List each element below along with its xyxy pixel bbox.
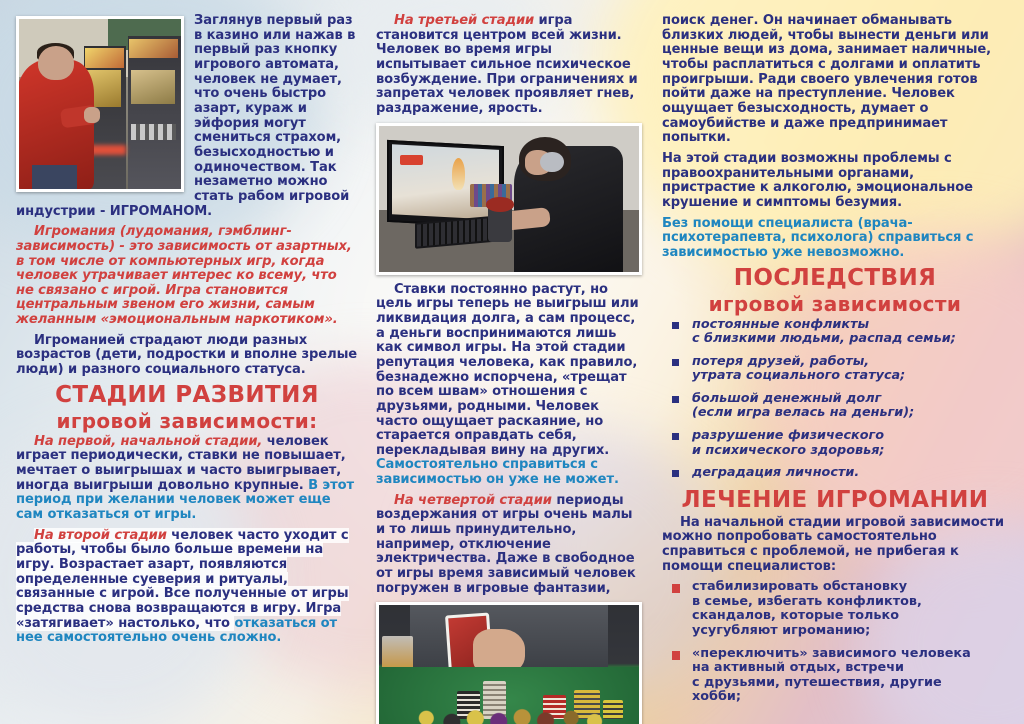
stage-2-lead: На второй стадии <box>34 528 167 543</box>
columns-container: Заглянув первый раз в казино или нажав в… <box>0 0 1024 724</box>
consequence-item-label: постоянные конфликтыс близкими людьми, р… <box>692 317 956 347</box>
consequence-item-label: большой денежный долг(если игра велась н… <box>692 391 914 421</box>
consequence-item-label: деградация личности. <box>692 465 859 480</box>
treatment-step-item: стабилизировать обстановкув семье, избег… <box>662 580 1008 638</box>
consequences-heading-line1: ПОСЛЕДСТВИЯ <box>662 267 1008 290</box>
stages-heading-line2: игровой зависимости: <box>16 411 358 431</box>
treatment-steps-list: стабилизировать обстановкув семье, избег… <box>662 580 1008 705</box>
money-search-paragraph: поиск денег. Он начинает обманывать близ… <box>662 14 1008 146</box>
bullet-marker-icon <box>672 433 679 440</box>
stages-heading-line1: СТАДИИ РАЗВИТИЯ <box>16 384 358 407</box>
consequences-heading-line2: игровой зависимости <box>662 294 1008 314</box>
bullet-marker-icon <box>672 396 679 403</box>
who-suffers-paragraph: Игроманией страдают люди разных возрасто… <box>16 334 358 378</box>
bullet-marker-icon <box>672 470 679 477</box>
stakes-paragraph: Ставки постоянно растут, но цель игры те… <box>376 283 642 488</box>
consequence-item: разрушение физическогои психического здо… <box>662 429 1008 458</box>
stage-1-lead: На первой, начальной стадии, <box>34 434 262 449</box>
stage-4-lead: На четвертой стадии <box>394 493 552 508</box>
bullet-marker-icon <box>672 322 679 329</box>
treatment-step-item-label: «переключить» зависимого человекана акти… <box>692 646 971 705</box>
poker-table-photo <box>376 602 642 724</box>
stakes-highlight: Самостоятельно справиться с зависимостью… <box>376 457 619 487</box>
definition-paragraph: Игромания (лудомания, гэмблинг-зависимос… <box>16 225 358 328</box>
specialist-help-paragraph: Без помощи специалиста (врача-психотерап… <box>662 217 1008 261</box>
consequence-item-label: разрушение физическогои психического здо… <box>692 428 885 458</box>
stage-4-body: периоды воздержания от игры очень малы и… <box>376 493 636 596</box>
bullet-marker-icon <box>672 359 679 366</box>
consequences-list: постоянные конфликтыс близкими людьми, р… <box>662 318 1008 481</box>
stage-problems-paragraph: На этой стадии возможны проблемы с право… <box>662 152 1008 211</box>
consequence-item: потеря друзей, работы,утрата социального… <box>662 355 1008 384</box>
stakes-body: Ставки постоянно растут, но цель игры те… <box>376 282 639 458</box>
man-at-slot-machines-photo <box>16 16 184 192</box>
stage-3-paragraph: На третьей стадии игра становится центро… <box>376 14 642 117</box>
consequence-item: большой денежный долг(если игра велась н… <box>662 392 1008 421</box>
consequence-item: деградация личности. <box>662 466 1008 481</box>
bullet-marker-icon <box>672 584 680 593</box>
consequence-item: постоянные конфликтыс близкими людьми, р… <box>662 318 1008 347</box>
treatment-intro-paragraph: На начальной стадии игровой зависимости … <box>662 516 1008 575</box>
stage-4-paragraph: На четвертой стадии периоды воздержания … <box>376 494 642 597</box>
brochure-page: Заглянув первый раз в казино или нажав в… <box>0 0 1024 724</box>
stage-3-body: игра становится центром всей жизни. Чело… <box>376 13 638 116</box>
gamer-with-headphones-photo <box>376 123 642 275</box>
bullet-marker-icon <box>672 651 680 660</box>
middle-column: На третьей стадии игра становится центро… <box>368 14 650 710</box>
treatment-step-item: «переключить» зависимого человекана акти… <box>662 647 1008 705</box>
stage-1-paragraph: На первой, начальной стадии, человек игр… <box>16 435 358 523</box>
stage-3-lead: На третьей стадии <box>394 13 534 28</box>
stage-2-paragraph: На второй стадии человек часто уходит с … <box>16 529 358 646</box>
treatment-step-item-label: стабилизировать обстановкув семье, избег… <box>692 579 922 638</box>
right-column: поиск денег. Он начинает обманывать близ… <box>650 14 1008 710</box>
left-column: Заглянув первый раз в казино или нажав в… <box>16 14 368 710</box>
treatment-heading: ЛЕЧЕНИЕ ИГРОМАНИИ <box>662 489 1008 512</box>
consequence-item-label: потеря друзей, работы,утрата социального… <box>692 354 905 384</box>
